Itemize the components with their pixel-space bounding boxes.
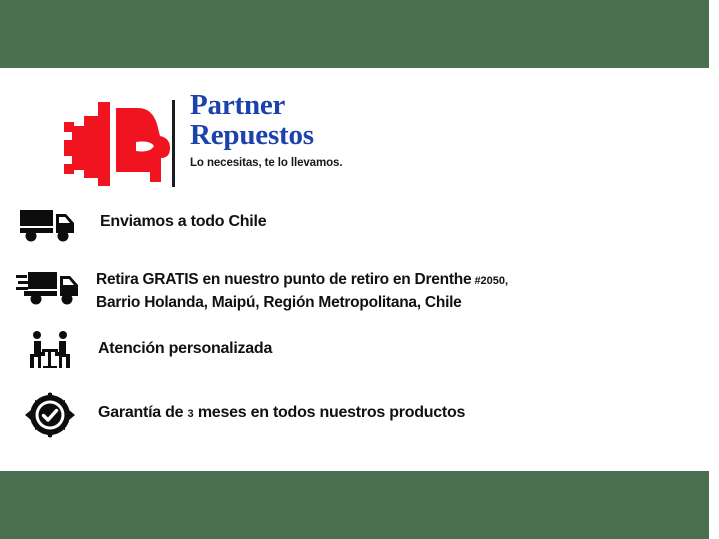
warranty-text-prefix: Garantía de <box>98 404 183 421</box>
brand-tagline: Lo necesitas, te lo llevamos. <box>190 157 610 169</box>
brand-wordmark: Partner Repuestos Lo necesitas, te lo ll… <box>190 90 610 169</box>
pickup-line-2: Barrio Holanda, Maipú, Región Metropolit… <box>96 294 462 311</box>
warranty-text-suffix: meses en todos nuestros productos <box>198 404 465 421</box>
pickup-street-number-value: #2050, <box>474 275 508 287</box>
logo-divider <box>172 100 175 187</box>
feature-label-pickup: Retira GRATIS en nuestro punto de retiro… <box>96 269 508 313</box>
bottom-green-band <box>0 471 709 539</box>
pickup-line-1-main: Retira GRATIS en nuestro punto de retiro… <box>96 271 471 288</box>
fast-delivery-truck-icon <box>14 268 82 306</box>
warranty-months: 3 <box>187 408 193 420</box>
brand-name-line-1: Partner <box>190 90 610 120</box>
check-badge-icon <box>25 392 75 438</box>
delivery-truck-icon <box>18 206 78 244</box>
feature-label-support: Atención personalizada <box>98 340 272 358</box>
brand-name-line-2: Repuestos <box>190 120 610 150</box>
feature-label-warranty: Garantía de 3 meses en todos nuestros pr… <box>98 404 465 422</box>
feature-label-shipping: Enviamos a todo Chile <box>100 213 266 231</box>
brand-logo: Partner Repuestos Lo necesitas, te lo ll… <box>0 90 719 200</box>
feature-row-shipping: Enviamos a todo Chile <box>0 206 719 244</box>
people-at-table-icon <box>24 330 76 372</box>
content-sheet: Partner Repuestos Lo necesitas, te lo ll… <box>0 68 719 471</box>
feature-row-pickup: Retira GRATIS en nuestro punto de retiro… <box>0 268 719 313</box>
top-green-band <box>0 0 709 68</box>
gear-car-split-icon <box>58 98 170 190</box>
feature-row-warranty: Garantía de 3 meses en todos nuestros pr… <box>0 392 719 438</box>
promo-banner: Partner Repuestos Lo necesitas, te lo ll… <box>0 0 719 539</box>
feature-row-support: Atención personalizada <box>0 330 719 372</box>
